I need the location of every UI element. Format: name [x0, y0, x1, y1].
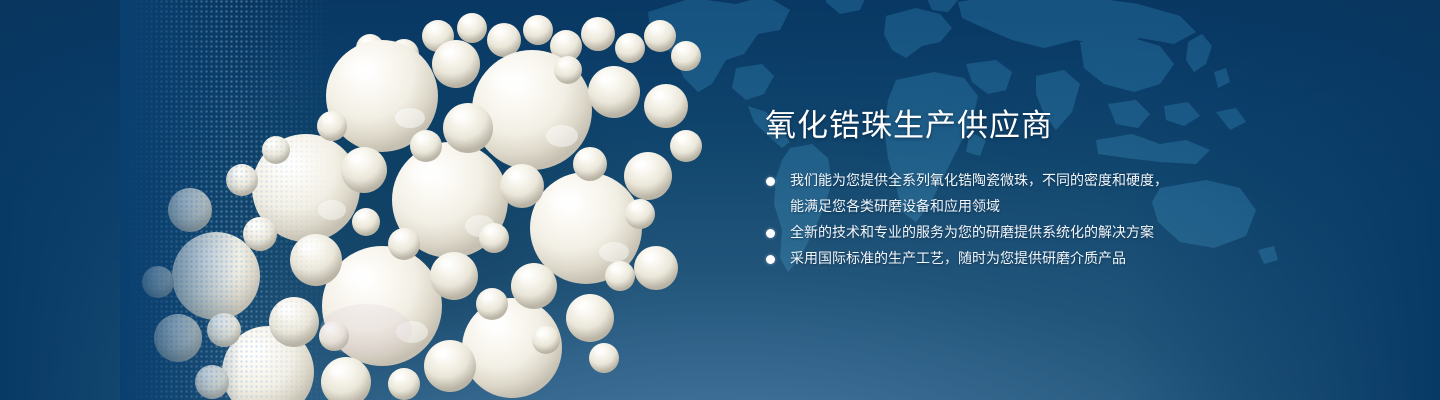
bullet-item-2: 全新的技术和专业的服务为您的研磨提供系统化的解决方案	[765, 220, 1235, 246]
bullet-text-line-2: 能满足您各类研磨设备和应用领域	[790, 194, 1235, 220]
zirconia-beads-photo	[120, 0, 720, 400]
bullet-dot-icon	[766, 255, 775, 264]
bullet-item-1: 我们能为您提供全系列氧化锆陶瓷微珠，不同的密度和硬度， 能满足您各类研磨设备和应…	[765, 168, 1235, 220]
banner-bullet-list: 我们能为您提供全系列氧化锆陶瓷微珠，不同的密度和硬度， 能满足您各类研磨设备和应…	[765, 168, 1235, 272]
bullet-text-line-1: 全新的技术和专业的服务为您的研磨提供系统化的解决方案	[790, 225, 1154, 241]
bullet-text-line-1: 采用国际标准的生产工艺，随时为您提供研磨介质产品	[790, 251, 1126, 267]
banner-headline: 氧化锆珠生产供应商	[765, 106, 1235, 146]
bullet-dot-icon	[766, 177, 775, 186]
banner-copy-block: 氧化锆珠生产供应商 我们能为您提供全系列氧化锆陶瓷微珠，不同的密度和硬度， 能满…	[765, 106, 1235, 272]
bullet-item-3: 采用国际标准的生产工艺，随时为您提供研磨介质产品	[765, 246, 1235, 272]
bullet-dot-icon	[766, 229, 775, 238]
hero-banner: 氧化锆珠生产供应商 我们能为您提供全系列氧化锆陶瓷微珠，不同的密度和硬度， 能满…	[0, 0, 1440, 400]
bullet-text-line-1: 我们能为您提供全系列氧化锆陶瓷微珠，不同的密度和硬度，	[790, 173, 1168, 189]
